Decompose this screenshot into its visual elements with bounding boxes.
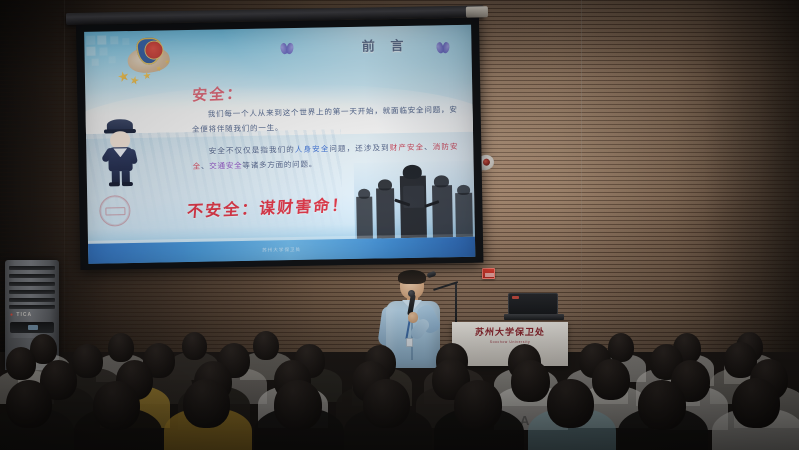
laptop-logo bbox=[512, 296, 519, 299]
microphone-capsule bbox=[408, 290, 415, 297]
seal-inner-band bbox=[105, 207, 125, 215]
officer-helmet bbox=[434, 175, 449, 187]
slide-title: 前 言 bbox=[362, 35, 410, 55]
audience-member bbox=[274, 380, 322, 430]
projection-screen: 前 言 安全： 我们每一个人从来到这个世界上的第一天开 bbox=[76, 18, 483, 270]
cop-shoe bbox=[109, 182, 120, 186]
p2-highlight-personal: 人身安全 bbox=[295, 144, 330, 154]
audience-member bbox=[182, 332, 207, 360]
roller-end-cap bbox=[466, 6, 488, 17]
p2-highlight-property: 财产安全 bbox=[390, 143, 425, 153]
officer-figure bbox=[356, 197, 373, 239]
p2-lead: 安全不仅仅是指我们的 bbox=[208, 145, 295, 156]
ac-grille bbox=[9, 266, 55, 308]
paragraph-1-text: 我们每一个人从来到这个世界上的第一天开始，就面临安全问题，安全便将伴随我们的一生… bbox=[192, 105, 458, 134]
fire-alarm-icon[interactable] bbox=[482, 268, 495, 279]
audience-member bbox=[732, 378, 780, 428]
officer-helmet bbox=[457, 185, 470, 195]
audience-member bbox=[93, 381, 140, 430]
audience-member bbox=[454, 380, 502, 430]
audience-member bbox=[511, 360, 550, 402]
slide-footer-text: 苏州大学保卫处 bbox=[262, 247, 301, 254]
officer-figure bbox=[376, 188, 395, 238]
audience-member bbox=[72, 344, 103, 378]
cop-shoe bbox=[122, 182, 133, 186]
audience-member bbox=[592, 359, 630, 400]
butterfly-icon bbox=[436, 42, 449, 53]
lecture-hall-photo: ● TICA bbox=[0, 0, 799, 450]
audience-member bbox=[183, 379, 230, 428]
audience-member bbox=[108, 333, 134, 362]
swat-officers-photo bbox=[354, 161, 475, 239]
slide-paragraph-1: 我们每一个人从来到这个世界上的第一天开始，就面临安全问题，安全便将伴随我们的一生… bbox=[192, 103, 458, 137]
p2-highlight-traffic: 交通安全 bbox=[209, 161, 242, 171]
butterfly-icon bbox=[280, 43, 293, 54]
audience-member bbox=[363, 379, 410, 428]
audience-group: A bbox=[0, 310, 799, 450]
audience-member bbox=[547, 379, 594, 428]
presentation-slide: 前 言 安全： 我们每一个人从来到这个世界上的第一天开 bbox=[84, 25, 475, 264]
camera-lens bbox=[482, 158, 491, 167]
p2-tail: 等诸多方面的问题。 bbox=[242, 159, 317, 169]
presenter-hair bbox=[398, 270, 426, 284]
audience-member bbox=[253, 331, 279, 360]
officer-figure bbox=[455, 193, 473, 237]
cartoon-policeman-icon bbox=[103, 119, 138, 186]
officer-helmet bbox=[403, 165, 422, 179]
audience-member bbox=[608, 333, 634, 362]
p2-sep: 、 bbox=[201, 161, 209, 170]
audience-member bbox=[6, 347, 36, 380]
slide-heading-safety: 安全： bbox=[192, 82, 244, 105]
p2-mid: 问题，还涉及到 bbox=[329, 143, 389, 153]
audience-member bbox=[6, 380, 52, 428]
audience-member bbox=[638, 380, 686, 430]
officer-figure bbox=[432, 185, 453, 237]
officer-helmet bbox=[378, 179, 392, 190]
officer-helmet bbox=[358, 189, 370, 199]
